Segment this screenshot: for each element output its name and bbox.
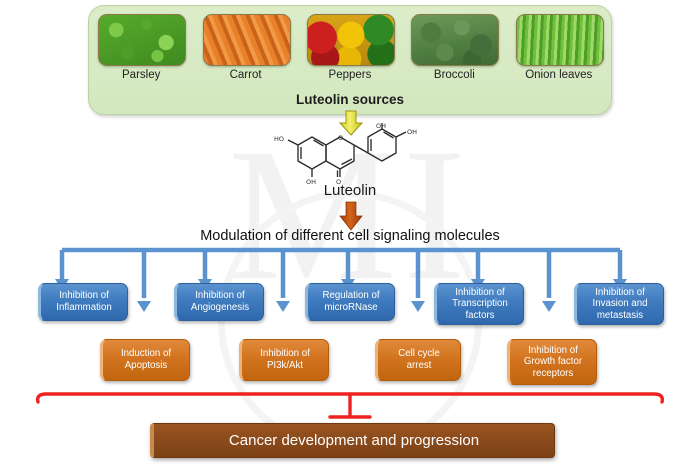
source-item-onion-leaves: Onion leaves <box>516 14 602 81</box>
svg-text:O: O <box>338 134 343 142</box>
onion-leaves-thumbnail <box>516 14 604 66</box>
node-inhibition-of-pi3k-akt[interactable]: Inhibition ofPI3k/Akt <box>239 339 329 381</box>
modulation-title: Modulation of different cell signaling m… <box>0 228 700 244</box>
node-induction-of-apoptosis[interactable]: Induction ofApoptosis <box>100 339 190 381</box>
node-inhibition-of-inflammation[interactable]: Inhibition ofInflammation <box>38 283 128 321</box>
source-item-broccoli: Broccoli <box>411 14 497 81</box>
node-inhibition-of-growth-factor-receptors[interactable]: Inhibition ofGrowth factorreceptors <box>507 339 597 385</box>
node-label: Inhibition ofInvasion andmetastasis <box>593 287 648 322</box>
node-label: Inhibition ofInflammation <box>56 290 111 313</box>
node-label: Cell cyclearrest <box>398 348 439 371</box>
source-label: Parsley <box>98 69 184 81</box>
node-inhibition-of-transcription-factors[interactable]: Inhibition ofTranscriptionfactors <box>434 283 524 325</box>
svg-text:OH: OH <box>407 128 417 136</box>
node-label: Inhibition ofAngiogenesis <box>191 290 249 313</box>
source-label: Onion leaves <box>516 69 602 81</box>
sources-panel-title: Luteolin sources <box>89 92 611 107</box>
source-thumbnail-row: Parsley Carrot Peppers Broccoli Onion le… <box>89 14 611 86</box>
node-label: Inhibition ofPI3k/Akt <box>260 348 310 371</box>
node-label: Inhibition ofTranscriptionfactors <box>452 287 508 322</box>
node-cell-cycle-arrest[interactable]: Cell cyclearrest <box>375 339 461 381</box>
source-item-carrot: Carrot <box>203 14 289 81</box>
cancer-development-box[interactable]: Cancer development and progression <box>150 423 555 458</box>
node-regulation-of-micrornase[interactable]: Regulation ofmicroRNase <box>305 283 395 321</box>
node-inhibition-of-invasion-and-metastasis[interactable]: Inhibition ofInvasion andmetastasis <box>574 283 664 325</box>
luteolin-chemical-structure-icon: HO OH O OH OH O <box>268 123 432 185</box>
parsley-thumbnail <box>98 14 186 66</box>
svg-text:OH: OH <box>376 123 386 130</box>
source-label: Peppers <box>307 69 393 81</box>
source-item-peppers: Peppers <box>307 14 393 81</box>
orange-down-arrow-icon <box>338 201 364 231</box>
node-label: Regulation ofmicroRNase <box>322 290 379 313</box>
source-label: Broccoli <box>411 69 497 81</box>
carrot-thumbnail <box>203 14 291 66</box>
luteolin-label: Luteolin <box>0 182 700 199</box>
svg-text:HO: HO <box>274 135 284 143</box>
source-label: Carrot <box>203 69 289 81</box>
source-item-parsley: Parsley <box>98 14 184 81</box>
node-label: Inhibition ofGrowth factorreceptors <box>524 345 582 380</box>
node-inhibition-of-angiogenesis[interactable]: Inhibition ofAngiogenesis <box>174 283 264 321</box>
cancer-development-label: Cancer development and progression <box>229 432 479 449</box>
diagram-canvas: MI Parsley Carrot Peppers Broccoli <box>0 0 700 464</box>
luteolin-sources-panel: Parsley Carrot Peppers Broccoli Onion le… <box>88 5 612 115</box>
node-label: Induction ofApoptosis <box>121 348 171 371</box>
peppers-thumbnail <box>307 14 395 66</box>
broccoli-thumbnail <box>411 14 499 66</box>
